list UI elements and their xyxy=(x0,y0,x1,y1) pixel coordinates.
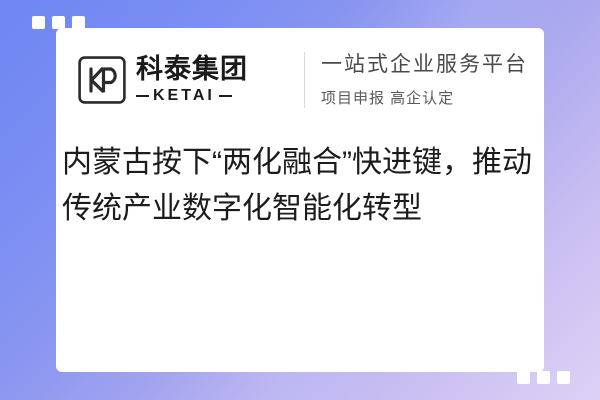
poster-card: 科泰集团 KETAI 一站式企业服务平台 项目申报 高企认定 内蒙古按下“两化融… xyxy=(0,0,600,400)
brand-name-en-row: KETAI xyxy=(136,87,248,105)
content-panel: 科泰集团 KETAI 一站式企业服务平台 项目申报 高企认定 内蒙古按下“两化融… xyxy=(56,28,544,372)
brand-logo[interactable]: 科泰集团 KETAI xyxy=(56,55,300,105)
decorative-dots-bottom xyxy=(517,371,570,384)
decorative-dots-top xyxy=(32,16,85,29)
slogan-block: 一站式企业服务平台 项目申报 高企认定 xyxy=(321,52,528,108)
brand-name-cn: 科泰集团 xyxy=(136,55,248,84)
brand-name-en: KETAI xyxy=(153,87,215,105)
slogan-sub: 项目申报 高企认定 xyxy=(321,87,528,108)
slogan-main: 一站式企业服务平台 xyxy=(321,52,528,78)
rule-left-icon xyxy=(136,95,149,97)
dot-icon xyxy=(517,371,530,384)
vertical-divider xyxy=(304,52,305,108)
dot-icon xyxy=(52,16,65,29)
article-headline: 内蒙古按下“两化融合”快进键，推动传统产业数字化智能化转型 xyxy=(56,140,544,231)
dot-icon xyxy=(557,371,570,384)
brand-header: 科泰集团 KETAI 一站式企业服务平台 项目申报 高企认定 xyxy=(56,28,544,132)
dot-icon xyxy=(32,16,45,29)
dot-icon xyxy=(72,16,85,29)
ketai-kp-monogram-icon xyxy=(78,56,126,104)
brand-wordmark: 科泰集团 KETAI xyxy=(136,55,248,105)
dot-icon xyxy=(537,371,550,384)
rule-right-icon xyxy=(219,95,232,97)
